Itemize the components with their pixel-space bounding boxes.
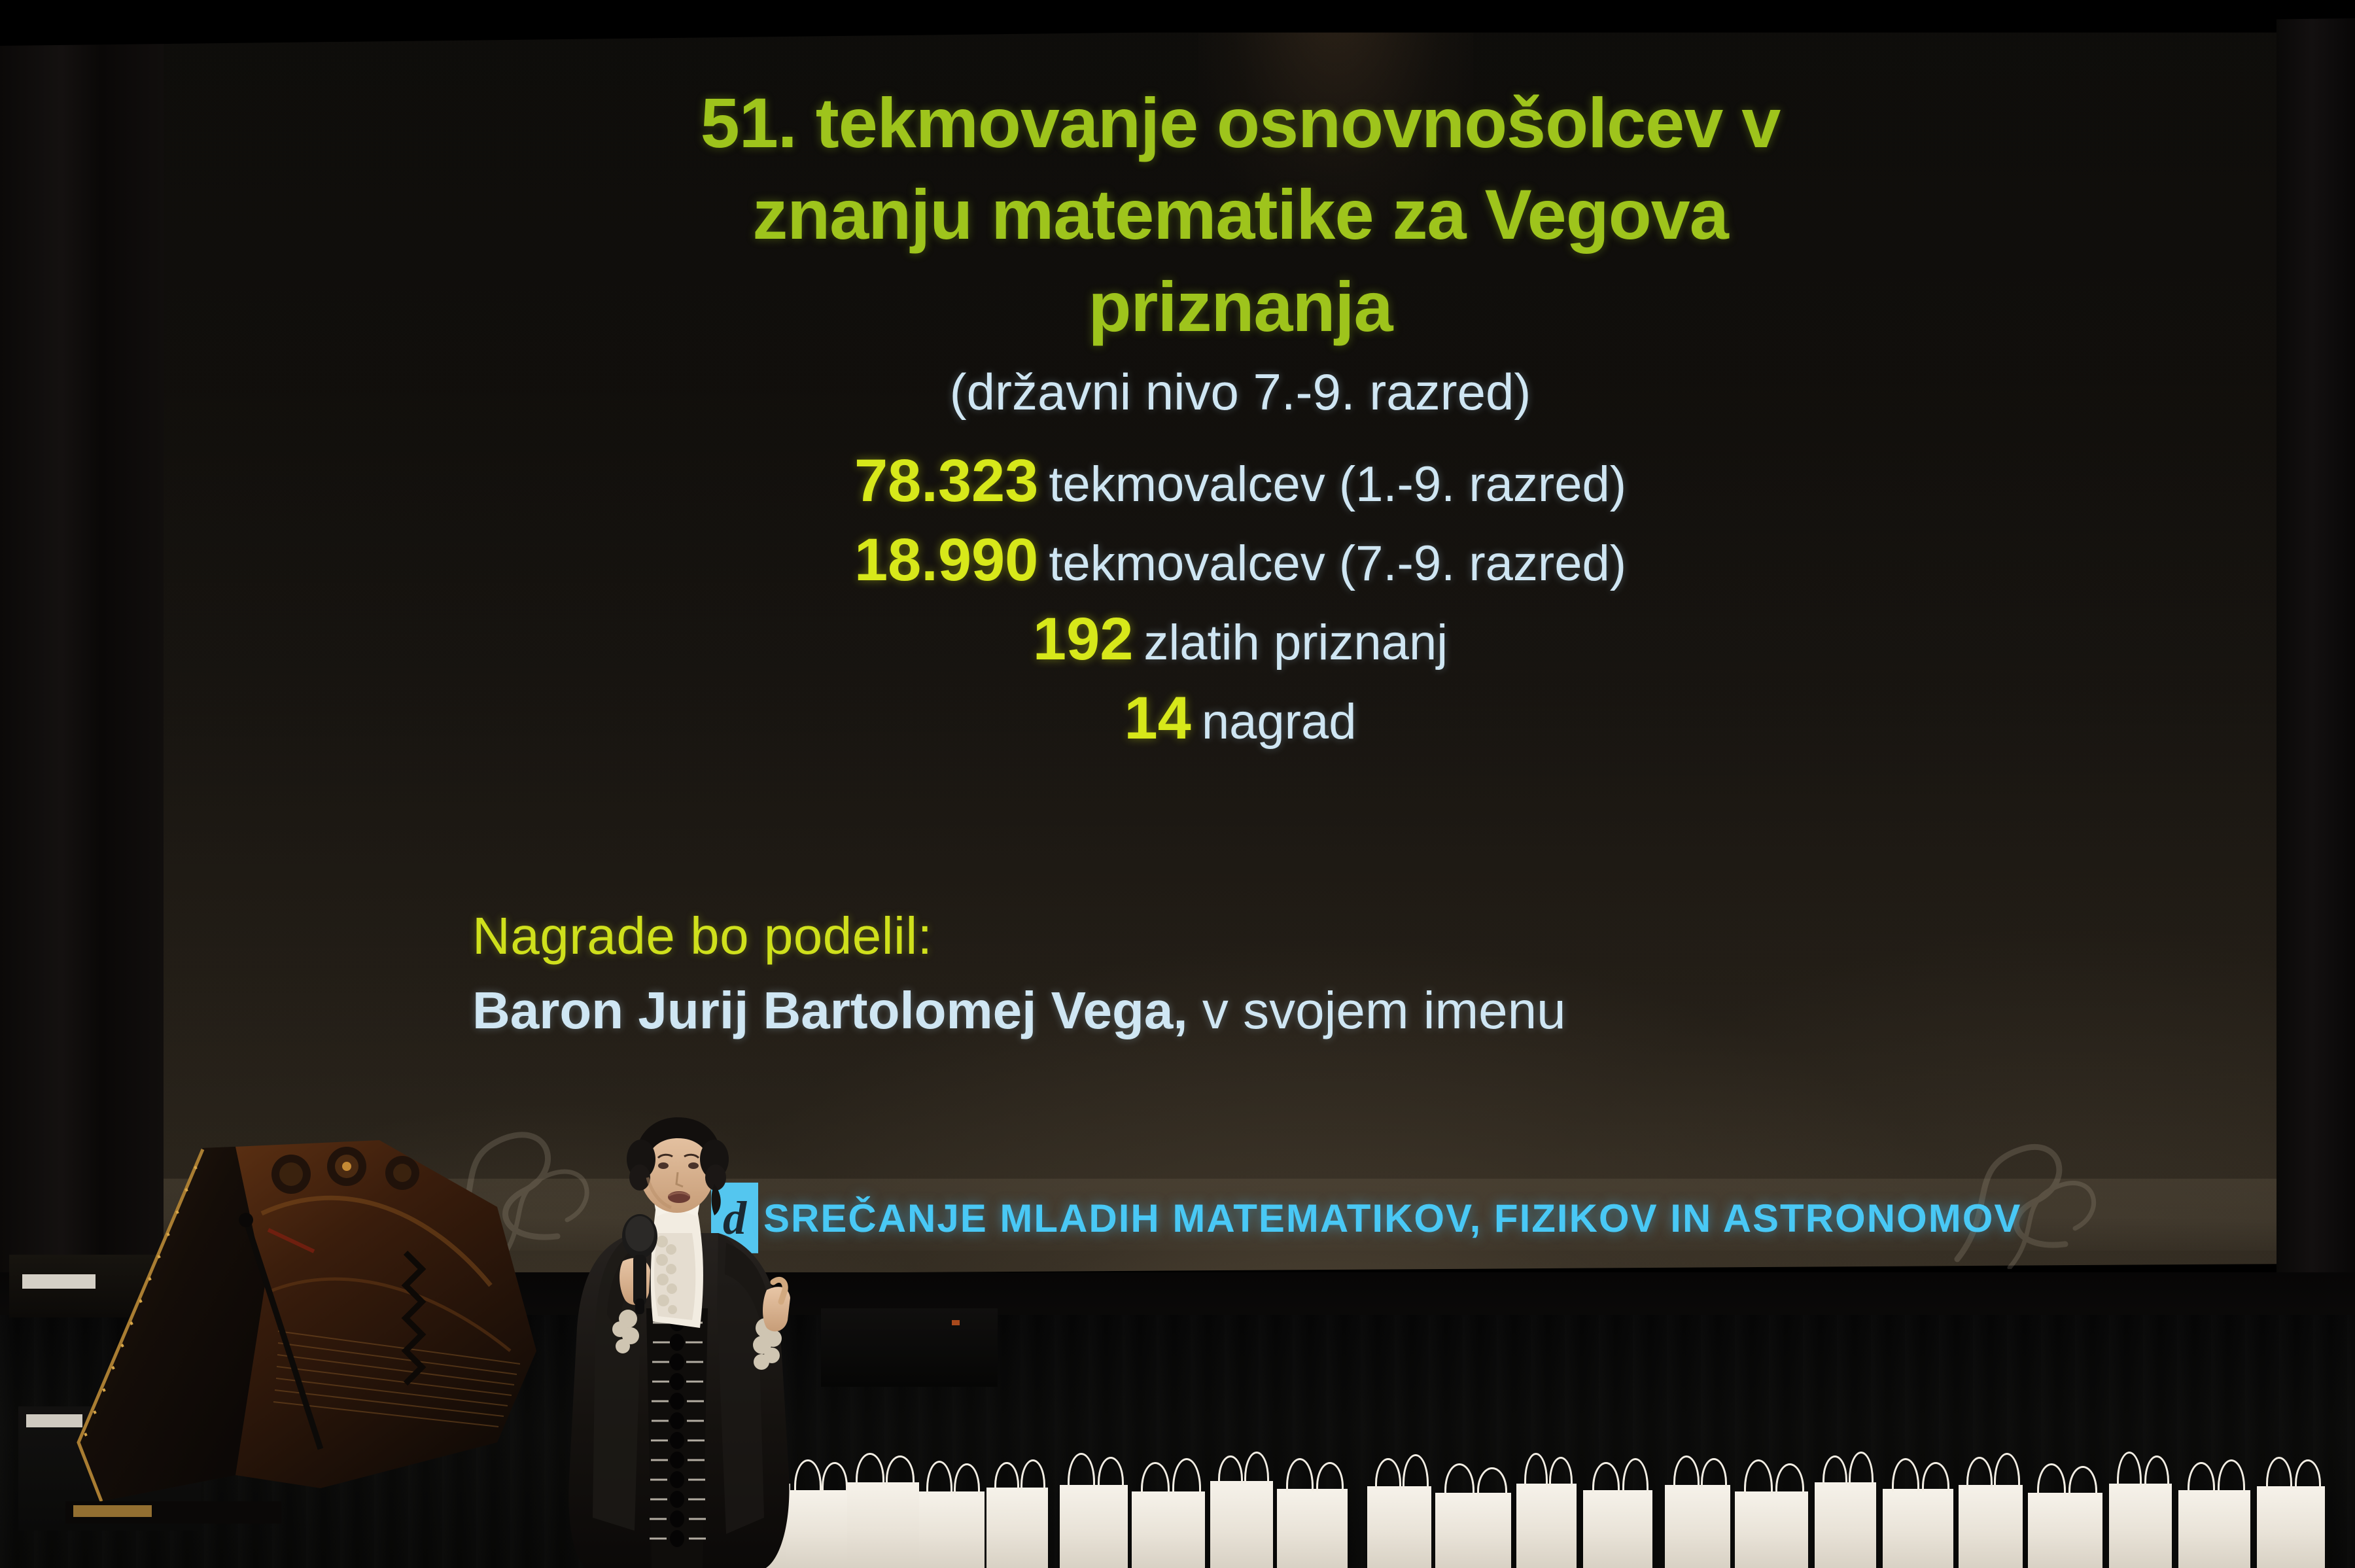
gift-bag — [2028, 1493, 2102, 1568]
stage-monitor-table — [821, 1308, 998, 1387]
presenter-name-bold: Baron Jurij Bartolomej Vega, — [472, 981, 1188, 1039]
presenter-name-line: Baron Jurij Bartolomej Vega, v svojem im… — [472, 981, 2042, 1041]
gift-bag — [1583, 1490, 1652, 1568]
gift-bag-handle — [1477, 1467, 1507, 1495]
gift-bag-handle — [1892, 1458, 1919, 1491]
presenter-lead-text: Nagrade bo podelil: — [472, 906, 2042, 966]
gift-bag-handle — [1444, 1463, 1474, 1495]
stat-number: 78.323 — [854, 447, 1038, 515]
gift-bag-handle — [926, 1461, 952, 1494]
gift-bag-handle — [1701, 1458, 1727, 1488]
stat-label: tekmovalcev (1.-9. razred) — [1049, 456, 1626, 513]
gift-bag-handle — [954, 1463, 980, 1494]
gift-bag-handle — [1286, 1458, 1314, 1491]
gift-bag — [1277, 1489, 1348, 1568]
gift-bag-handle — [994, 1462, 1019, 1490]
gift-bag-handle — [1218, 1455, 1243, 1484]
gift-bag — [1883, 1489, 1953, 1568]
amplifier-brand-plate — [22, 1274, 96, 1289]
gift-bag — [986, 1488, 1048, 1568]
gift-bag — [1815, 1482, 1876, 1568]
gift-bag-handle — [1966, 1457, 1993, 1488]
gift-bag-handle — [1622, 1458, 1648, 1493]
gift-bag — [1435, 1493, 1511, 1568]
gift-bag — [919, 1491, 985, 1568]
gift-bag-handle — [856, 1453, 884, 1485]
gift-bag-handle — [2188, 1462, 2215, 1493]
gift-bag-handle — [1994, 1453, 2020, 1488]
gift-bag-handle — [886, 1455, 915, 1485]
stat-row: 18.990 tekmovalcev (7.-9. razred) — [152, 526, 2329, 595]
stat-number: 18.990 — [854, 526, 1038, 595]
stat-label: zlatih priznanj — [1143, 614, 1448, 671]
slide-footer-text: SREČANJE MLADIH MATEMATIKOV, FIZIKOV IN … — [763, 1196, 2333, 1241]
gift-bag-handle — [1549, 1457, 1573, 1486]
gift-bag-handle — [1744, 1459, 1773, 1494]
gift-bag — [1132, 1491, 1205, 1568]
gift-bag-handle — [1375, 1458, 1401, 1489]
presenter-in-costume — [536, 1112, 831, 1568]
slide-title: 51. tekmovanje osnovnošolcev v znanju ma… — [152, 0, 2329, 353]
stat-label: nagrad — [1202, 693, 1357, 750]
gift-bag-handle — [2295, 1459, 2321, 1489]
gift-bag-handle — [1403, 1454, 1429, 1489]
stat-row: 192 zlatih priznanj — [152, 605, 2329, 674]
gift-bag-handle — [1141, 1462, 1170, 1494]
gift-bag-handle — [2037, 1463, 2066, 1495]
gift-bag — [1516, 1484, 1577, 1568]
gift-bag-handle — [1673, 1455, 1700, 1488]
gift-bag-handle — [1922, 1462, 1949, 1491]
gift-bag-handle — [1068, 1453, 1095, 1488]
gift-bag-handle — [1524, 1453, 1548, 1486]
slide-title-line-1: 51. tekmovanje osnovnošolcev v — [152, 77, 2329, 169]
projection-screen-surface: 51. tekmovanje osnovnošolcev v znanju ma… — [152, 0, 2329, 1270]
gift-bag-handle — [1775, 1463, 1804, 1494]
stage-scene: 51. tekmovanje osnovnošolcev v znanju ma… — [0, 0, 2355, 1568]
gift-bag-handle — [1020, 1459, 1045, 1490]
stat-number: 192 — [1033, 605, 1134, 674]
gift-bag-handle — [2144, 1455, 2169, 1486]
gift-bag-handle — [2266, 1457, 2292, 1489]
gift-bag — [1665, 1485, 1730, 1568]
gift-bag — [1060, 1485, 1128, 1568]
gift-bag — [2109, 1484, 2172, 1568]
gift-bag-handle — [1172, 1458, 1201, 1494]
gift-bag — [1959, 1485, 2023, 1568]
gift-bag-handle — [2218, 1459, 2245, 1493]
monitor-status-led — [952, 1320, 960, 1325]
slide-subtitle: (državni nivo 7.-9. razred) — [152, 362, 2329, 422]
stat-row: 78.323 tekmovalcev (1.-9. razred) — [152, 447, 2329, 515]
gift-bag — [1367, 1486, 1431, 1568]
projection-screen: 51. tekmovanje osnovnošolcev v znanju ma… — [152, 0, 2329, 1277]
gift-bag — [2257, 1486, 2325, 1568]
gift-bag — [2178, 1490, 2250, 1568]
gift-bag-handle — [1098, 1457, 1124, 1488]
slide-title-line-2: znanju matematike za Vegova — [152, 169, 2329, 260]
presenter-announcement: Nagrade bo podelil: Baron Jurij Bartolom… — [472, 906, 2042, 1041]
gift-bag-handle — [2068, 1466, 2097, 1495]
presenter-name-rest: v svojem imenu — [1188, 981, 1566, 1039]
gift-bag — [847, 1482, 919, 1568]
slide-statistics: 78.323 tekmovalcev (1.-9. razred) 18.990… — [152, 447, 2329, 753]
gift-bag-handle — [1316, 1462, 1344, 1491]
slide-content: 51. tekmovanje osnovnošolcev v znanju ma… — [152, 0, 2329, 763]
gift-bag-handle — [1592, 1462, 1620, 1493]
gift-bag — [1735, 1491, 1808, 1568]
stat-label: tekmovalcev (7.-9. razred) — [1049, 535, 1626, 592]
slide-title-line-3: priznanja — [152, 261, 2329, 353]
gift-bag — [1210, 1481, 1273, 1568]
gift-bags-row — [713, 1457, 2355, 1568]
gift-bag-handle — [1823, 1455, 1847, 1485]
grand-piano — [39, 1135, 576, 1554]
stat-row: 14 nagrad — [152, 684, 2329, 753]
stat-number: 14 — [1125, 684, 1191, 753]
